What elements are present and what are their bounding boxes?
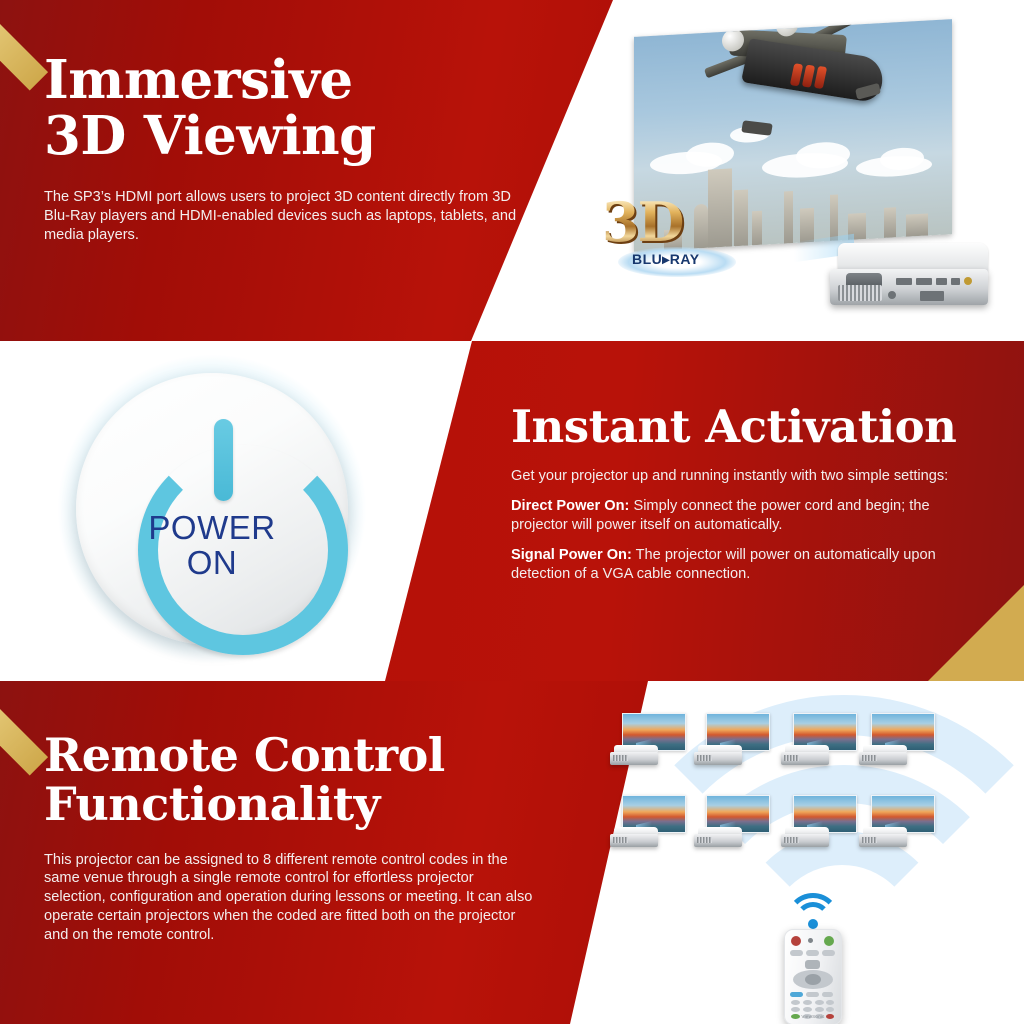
power-label-line1: POWER: [76, 511, 348, 546]
logo-bluray-text: BLU▸RAY: [632, 251, 700, 268]
power-symbol-stem-icon: [214, 419, 233, 501]
power-on-button[interactable]: POWER ON: [56, 353, 368, 665]
section2-bullet-1: Direct Power On: Simply connect the powe…: [511, 497, 966, 535]
projector-unit: [610, 795, 684, 857]
section2-intro: Get your projector up and running instan…: [511, 467, 966, 486]
projector-unit: [859, 795, 933, 857]
multi-projector-wifi-fan: ViewSonic: [594, 681, 1024, 1024]
power-button-disc: POWER ON: [76, 373, 348, 645]
wifi-signal-icon: [786, 893, 840, 925]
section3-title: Remote Control Functionality: [44, 731, 544, 829]
projector-device: [830, 243, 994, 317]
logo-3d-text: 3D: [602, 195, 742, 249]
section-immersive-3d-viewing: Immersive 3D Viewing The SP3’s HDMI port…: [0, 0, 1024, 341]
3d-projection-illustration: 3D BLU▸RAY: [594, 0, 1024, 341]
section3-title-line1: Remote Control: [44, 728, 445, 782]
section2-body: Get your projector up and running instan…: [511, 467, 966, 584]
section2-title: Instant Activation: [511, 403, 981, 451]
spaceship-graphic: [700, 19, 910, 137]
projector-unit: [781, 713, 855, 775]
projector-unit: [859, 713, 933, 775]
3d-bluray-logo: 3D BLU▸RAY: [602, 195, 742, 283]
bullet-2-label: Signal Power On:: [511, 547, 632, 563]
projector-vent-icon: [838, 285, 882, 301]
section2-text-block: Instant Activation Get your projector up…: [511, 403, 981, 584]
projector-unit: [694, 795, 768, 857]
section-remote-control-functionality: Remote Control Functionality This projec…: [0, 681, 1024, 1024]
section1-title-line2: 3D Viewing: [44, 105, 376, 167]
section3-text-block: Remote Control Functionality This projec…: [44, 731, 544, 945]
remote-control-device[interactable]: ViewSonic: [784, 929, 842, 1024]
section1-body: The SP3’s HDMI port allows users to proj…: [44, 188, 524, 245]
section1-text-block: Immersive 3D Viewing The SP3’s HDMI port…: [44, 52, 534, 245]
section1-title-line1: Immersive: [44, 49, 353, 111]
bullet-1-label: Direct Power On:: [511, 498, 629, 514]
section3-title-line2: Functionality: [44, 777, 380, 831]
section-instant-activation: POWER ON Instant Activation Get your pro…: [0, 341, 1024, 681]
section2-bullet-2: Signal Power On: The projector will powe…: [511, 546, 966, 584]
power-label-line2: ON: [76, 546, 348, 581]
section3-body: This projector can be assigned to 8 diff…: [44, 851, 534, 946]
projector-unit: [781, 795, 855, 857]
section1-title: Immersive 3D Viewing: [44, 52, 534, 164]
infographic-page: Immersive 3D Viewing The SP3’s HDMI port…: [0, 0, 1024, 1024]
remote-brand-label: ViewSonic: [785, 1014, 841, 1019]
projector-unit: [610, 713, 684, 775]
projector-unit: [694, 713, 768, 775]
power-button-label: POWER ON: [76, 511, 348, 581]
